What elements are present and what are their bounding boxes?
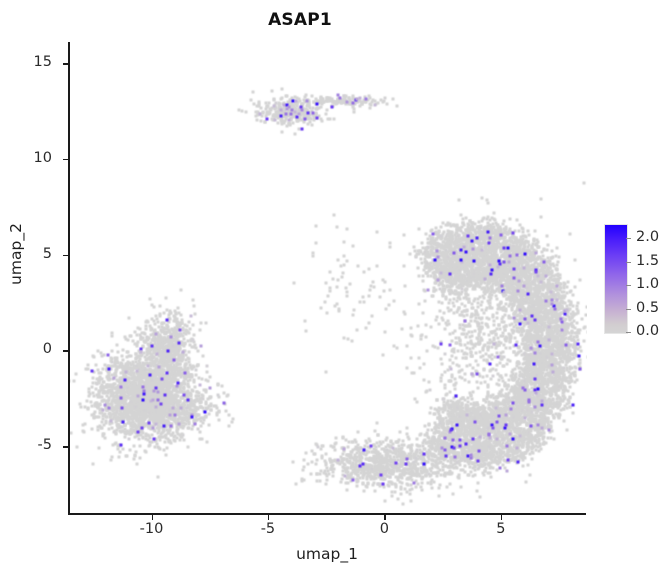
x-tick-label: 0	[354, 521, 414, 537]
colorbar-tick-label: 2.0	[636, 229, 659, 245]
colorbar-tick-mark	[626, 285, 631, 286]
x-tick-mark	[384, 515, 386, 520]
x-tick-mark	[268, 515, 270, 520]
y-tick-mark	[63, 350, 68, 352]
y-tick-mark	[63, 63, 68, 65]
x-tick-mark	[501, 515, 503, 520]
page-title: ASAP1	[0, 10, 600, 30]
scatter-plot-canvas	[70, 42, 587, 515]
x-axis-label: umap_1	[68, 545, 586, 563]
colorbar-tick-label: 1.5	[636, 253, 659, 269]
colorbar-tick-mark	[626, 332, 631, 333]
y-axis-label: umap_2	[7, 144, 25, 364]
x-tick-mark	[152, 515, 154, 520]
x-tick-label: -10	[122, 521, 182, 537]
x-tick-label: -5	[238, 521, 298, 537]
y-tick-mark	[63, 255, 68, 257]
colorbar-tick-label: 0.5	[636, 300, 659, 316]
x-tick-label: 5	[471, 521, 531, 537]
colorbar-tick-label: 1.0	[636, 276, 659, 292]
y-tick-label: -5	[0, 437, 52, 453]
chart-root: ASAP1 -5051015 -10-505 umap_1 umap_2 0.0…	[0, 0, 672, 576]
colorbar-tick-mark	[626, 238, 631, 239]
y-tick-mark	[63, 446, 68, 448]
colorbar-tick-mark	[626, 262, 631, 263]
y-tick-label: 15	[0, 54, 52, 70]
colorbar-gradient	[604, 224, 628, 334]
colorbar-tick-mark	[626, 309, 631, 310]
colorbar-tick-label: 0.0	[636, 323, 659, 339]
y-tick-mark	[63, 159, 68, 161]
